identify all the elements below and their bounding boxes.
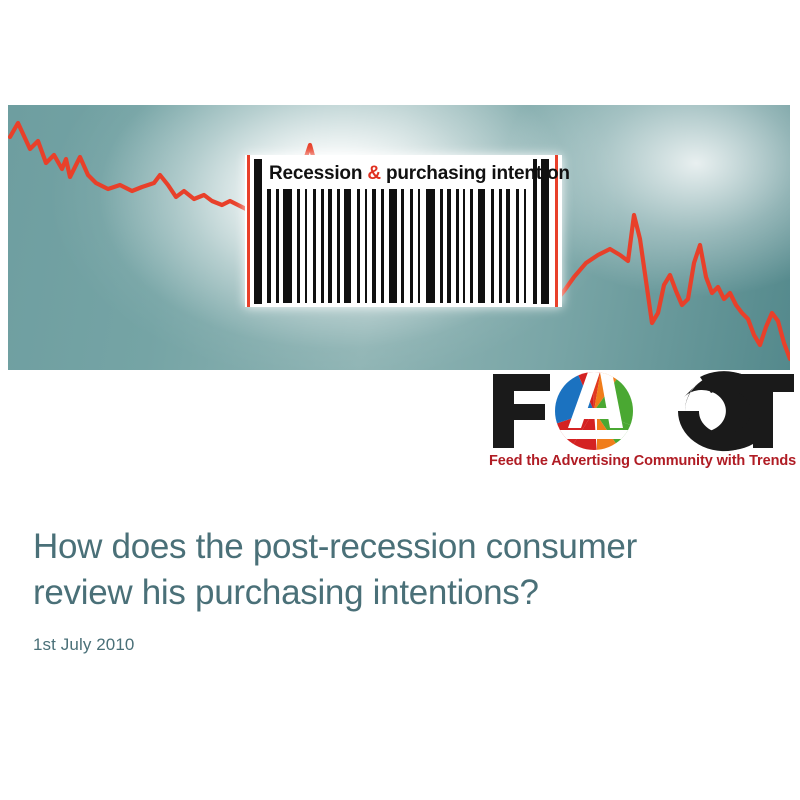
hero-banner: Recession & purchasing intention	[8, 105, 790, 370]
barcode-red-rule-left	[247, 155, 250, 307]
barcode-bar	[491, 189, 494, 303]
page-title: How does the post-recession consumer rev…	[33, 524, 763, 616]
barcode-bar	[357, 189, 360, 303]
headline-prefix: Recession	[269, 163, 367, 184]
barcode-bar	[506, 189, 510, 303]
chart-series-right	[556, 215, 790, 359]
barcode-bar	[389, 189, 397, 303]
barcode-bar	[283, 189, 292, 303]
barcode-bar	[381, 189, 384, 303]
barcode-bar	[372, 189, 376, 303]
barcode-bar	[499, 189, 502, 303]
barcode-bar	[297, 189, 300, 303]
barcode-bar	[524, 189, 526, 303]
barcode-bar	[426, 189, 435, 303]
barcode-guard-left	[254, 159, 262, 304]
barcode-bar	[440, 189, 443, 303]
barcode-bar	[463, 189, 465, 303]
barcode-bar	[470, 189, 473, 303]
barcode-bar	[516, 189, 519, 303]
barcode-bar	[456, 189, 459, 303]
barcode-bar	[321, 189, 324, 303]
headline-ampersand: &	[367, 163, 381, 184]
headline-suffix: purchasing intention	[381, 163, 570, 184]
barcode-bar	[365, 189, 367, 303]
barcode-bar	[305, 189, 307, 303]
fact-logo: Feed the Advertising Community with Tren…	[489, 368, 794, 480]
barcode-bar	[410, 189, 413, 303]
barcode-bars	[267, 189, 531, 303]
fact-wordmark	[489, 368, 794, 453]
barcode-bar	[401, 189, 404, 303]
fact-tagline: Feed the Advertising Community with Tren…	[489, 453, 794, 469]
banner-headline: Recession & purchasing intention	[269, 159, 531, 189]
barcode-bar	[328, 189, 332, 303]
barcode-bar	[418, 189, 420, 303]
barcode-bar	[276, 189, 279, 303]
barcode-bar	[447, 189, 451, 303]
logo-letter-f	[493, 374, 550, 448]
barcode-bar	[337, 189, 340, 303]
barcode-bar	[267, 189, 271, 303]
title-block: How does the post-recession consumer rev…	[33, 524, 763, 655]
barcode-bar	[313, 189, 316, 303]
barcode-panel: Recession & purchasing intention	[245, 155, 562, 307]
barcode-bar	[478, 189, 485, 303]
logo-letter-a-circle	[555, 369, 633, 453]
deck-date: 1st July 2010	[33, 635, 763, 655]
barcode-bar	[344, 189, 351, 303]
